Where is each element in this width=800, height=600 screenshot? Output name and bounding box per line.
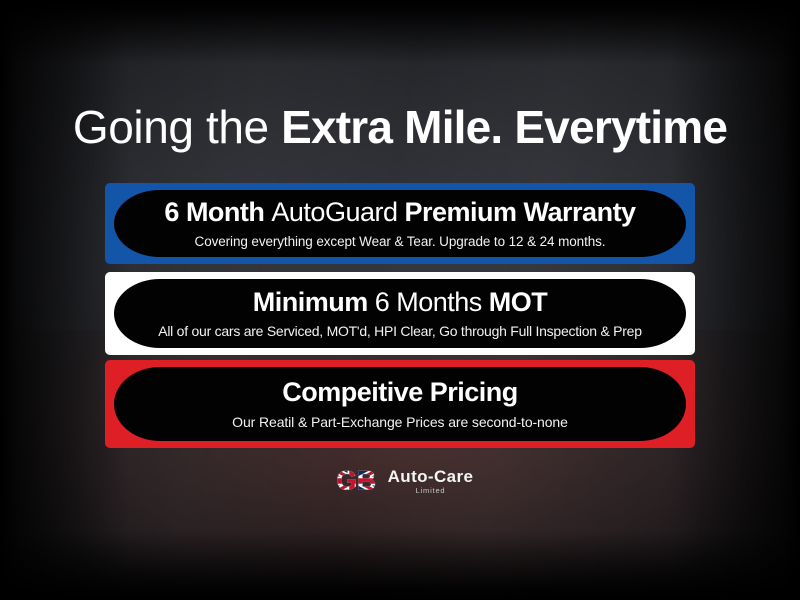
- feature-panel-warranty-inner: 6 Month AutoGuard Premium Warranty Cover…: [114, 190, 686, 257]
- promo-banner: Going the Extra Mile. Everytime 6 Month …: [0, 0, 800, 600]
- union-jack-gb-icon: GB: [327, 466, 385, 496]
- feature-panel-mot-inner: Minimum 6 Months MOT All of our cars are…: [114, 279, 686, 348]
- feature-panel-mot-title: Minimum 6 Months MOT: [253, 287, 548, 318]
- brand-logo-name: Auto-Care: [388, 468, 474, 485]
- brand-logo: GB Auto-Care Limited: [0, 466, 800, 496]
- page-title: Going the Extra Mile. Everytime: [0, 100, 800, 154]
- brand-logo-sub: Limited: [416, 487, 446, 495]
- brand-logo-wordmark: Auto-Care Limited: [388, 468, 474, 495]
- headline-light-text: Going the: [73, 101, 281, 153]
- feature-panel-pricing-subtitle: Our Reatil & Part-Exchange Prices are se…: [232, 414, 568, 431]
- feature-panel-warranty: 6 Month AutoGuard Premium Warranty Cover…: [105, 183, 695, 264]
- mot-title-bold-1: Minimum: [253, 287, 375, 317]
- feature-panel-mot: Minimum 6 Months MOT All of our cars are…: [105, 272, 695, 355]
- feature-panel-mot-subtitle: All of our cars are Serviced, MOT'd, HPI…: [158, 323, 642, 340]
- feature-panel-warranty-subtitle: Covering everything except Wear & Tear. …: [195, 234, 606, 250]
- pricing-title-bold-1: Compeitive Pricing: [282, 377, 518, 407]
- feature-panel-warranty-title: 6 Month AutoGuard Premium Warranty: [164, 197, 635, 228]
- warranty-title-regular: AutoGuard: [271, 197, 404, 227]
- warranty-title-bold-1: 6 Month: [164, 197, 271, 227]
- headline-bold-text: Extra Mile. Everytime: [281, 101, 727, 153]
- mot-title-regular: 6 Months: [375, 287, 489, 317]
- feature-panel-pricing-title: Compeitive Pricing: [282, 377, 518, 408]
- feature-panel-pricing-inner: Compeitive Pricing Our Reatil & Part-Exc…: [114, 367, 686, 441]
- feature-panel-pricing: Compeitive Pricing Our Reatil & Part-Exc…: [105, 360, 695, 448]
- mot-title-bold-2: MOT: [489, 287, 548, 317]
- warranty-title-bold-2: Premium Warranty: [405, 197, 636, 227]
- svg-text:GB: GB: [336, 466, 376, 496]
